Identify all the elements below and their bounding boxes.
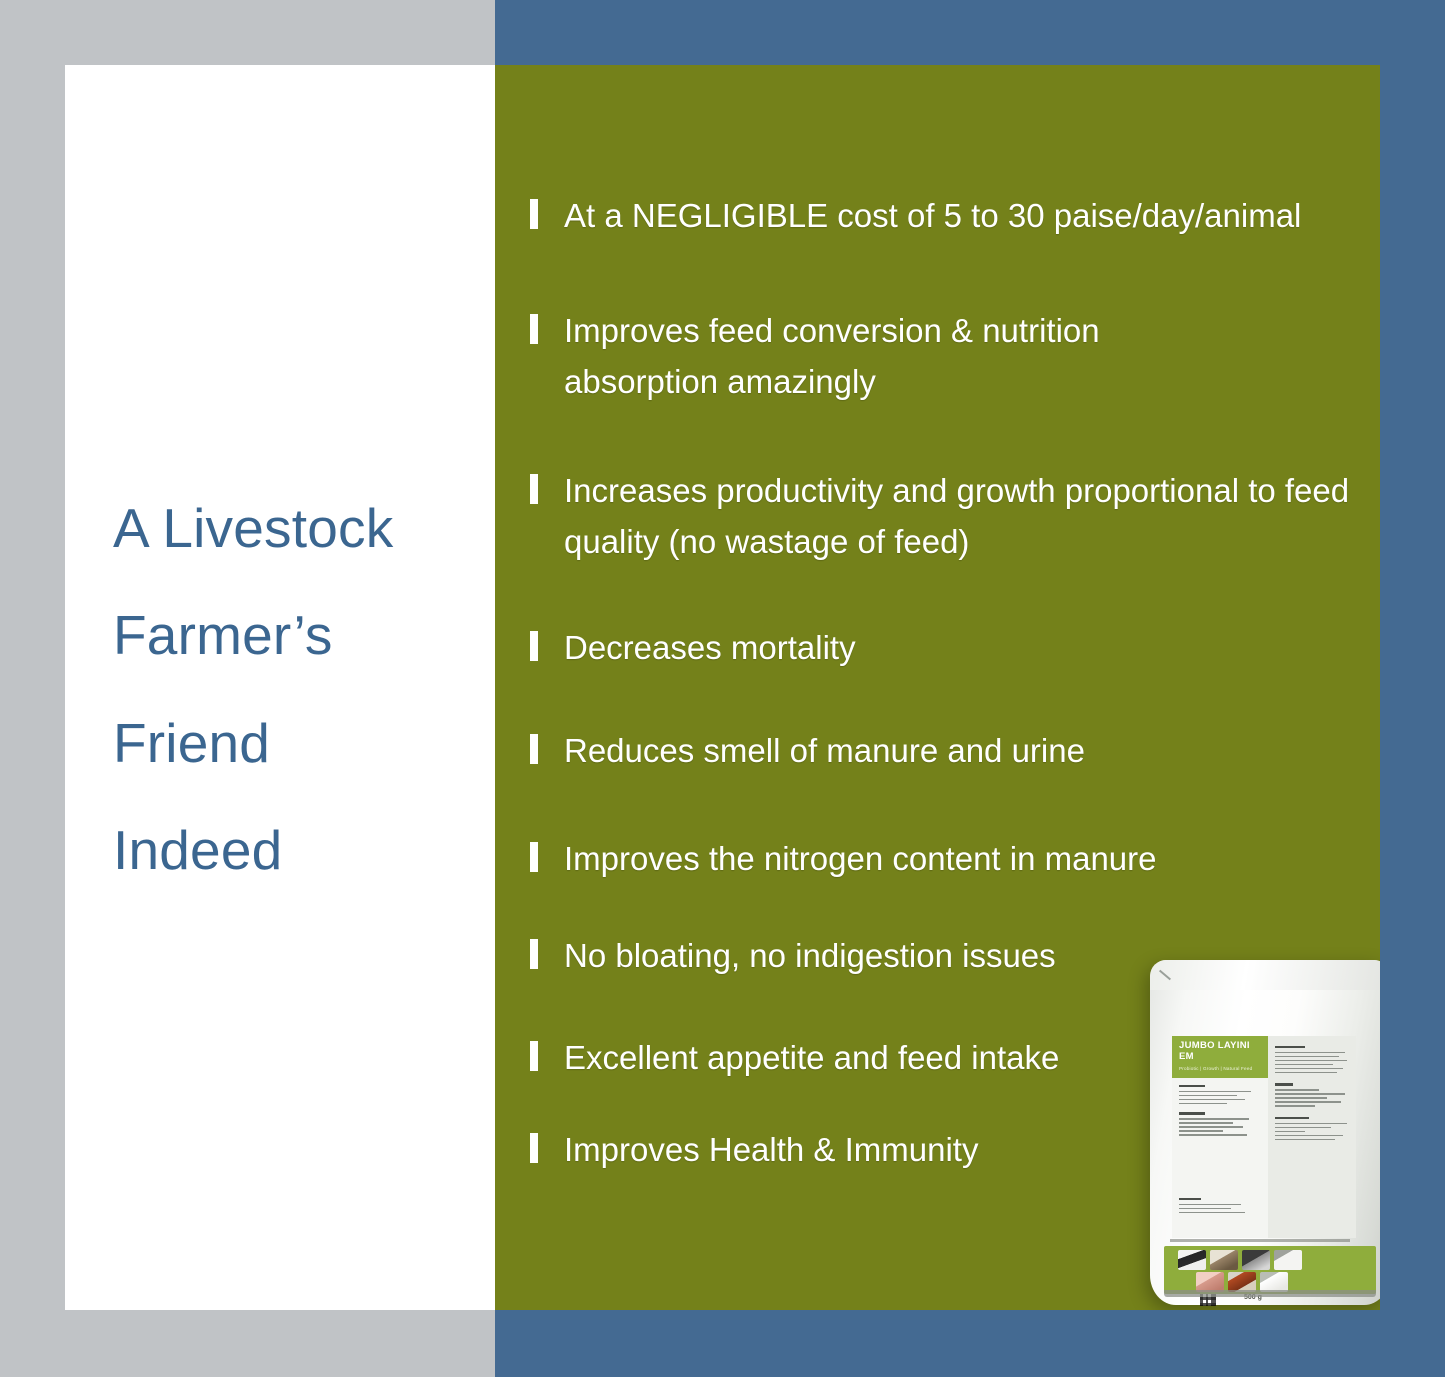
list-item: At a NEGLIGIBLE cost of 5 to 30 paise/da… <box>530 190 1380 241</box>
list-item: No bloating, no indigestion issues <box>530 930 1230 981</box>
brand-name-text: JUMBO LAYINI <box>1179 1040 1250 1051</box>
brand-suffix-text: EM <box>1179 1051 1194 1062</box>
title-line-3: Friend <box>113 690 493 797</box>
benefits-panel: At a NEGLIGIBLE cost of 5 to 30 paise/da… <box>495 65 1380 1310</box>
product-tagline: Probiotic | Growth | Natural Feed <box>1172 1062 1268 1071</box>
animal-icon-sheep <box>1242 1250 1270 1270</box>
bullet-marker-icon <box>530 199 538 229</box>
title-panel: A Livestock Farmer’s Friend Indeed <box>65 65 495 1310</box>
list-item-label: Reduces smell of manure and urine <box>564 725 1085 776</box>
animal-icon-pig <box>1196 1272 1224 1292</box>
list-item-label: At a NEGLIGIBLE cost of 5 to 30 paise/da… <box>564 190 1301 241</box>
animal-icon-chicken <box>1228 1272 1256 1292</box>
bullet-marker-icon <box>530 1041 538 1071</box>
animal-icon-duck <box>1260 1272 1288 1292</box>
product-benefits-panel <box>1268 1036 1356 1238</box>
list-item: Excellent appetite and feed intake <box>530 1032 1230 1083</box>
title-line-1: A Livestock <box>113 475 493 582</box>
bullet-marker-icon <box>530 734 538 764</box>
list-item: Decreases mortality <box>530 622 1290 673</box>
bullet-marker-icon <box>530 631 538 661</box>
product-image: JUMBO LAYINI EM Probiotic | Growth | Nat… <box>1150 960 1380 1310</box>
bullet-marker-icon <box>530 474 538 504</box>
animal-icon-rabbit <box>1274 1250 1302 1270</box>
product-brand-name: JUMBO LAYINI EM <box>1172 1036 1268 1062</box>
bullet-marker-icon <box>530 842 538 872</box>
pouch-top-seal <box>1150 960 1380 990</box>
animal-icon-cow <box>1178 1250 1206 1270</box>
bullet-marker-icon <box>530 314 538 344</box>
product-fineprint <box>1170 1239 1350 1242</box>
product-strip-base <box>1164 1290 1376 1297</box>
product-animal-strip <box>1164 1246 1376 1294</box>
title-line-2: Farmer’s <box>113 582 493 689</box>
slide-canvas: A Livestock Farmer’s Friend Indeed At a … <box>0 0 1445 1377</box>
list-item-label: Excellent appetite and feed intake <box>564 1032 1059 1083</box>
blue-frame-bottom <box>495 1310 1445 1377</box>
list-item-label: Increases productivity and growth propor… <box>564 465 1360 567</box>
page-title: A Livestock Farmer’s Friend Indeed <box>113 475 493 904</box>
list-item: Increases productivity and growth propor… <box>530 465 1360 567</box>
list-item-label: Improves Health & Immunity <box>564 1124 978 1175</box>
list-item: Reduces smell of manure and urine <box>530 725 1290 776</box>
list-item-label: Decreases mortality <box>564 622 856 673</box>
title-line-4: Indeed <box>113 797 493 904</box>
bullet-marker-icon <box>530 939 538 969</box>
product-brand-label: JUMBO LAYINI EM Probiotic | Growth | Nat… <box>1172 1036 1268 1078</box>
bullet-marker-icon <box>530 1133 538 1163</box>
list-item: Improves Health & Immunity <box>530 1124 1230 1175</box>
list-item: Improves the nitrogen content in manure <box>530 833 1290 884</box>
list-item-label: Improves the nitrogen content in manure <box>564 833 1157 884</box>
list-item-label: Improves feed conversion & nutrition abs… <box>564 305 1180 407</box>
list-item: Improves feed conversion & nutrition abs… <box>530 305 1180 407</box>
product-ingredients-panel: 500 g <box>1172 1078 1268 1238</box>
list-item-label: No bloating, no indigestion issues <box>564 930 1056 981</box>
animal-icon-goat <box>1210 1250 1238 1270</box>
product-pouch: JUMBO LAYINI EM Probiotic | Growth | Nat… <box>1150 960 1380 1305</box>
